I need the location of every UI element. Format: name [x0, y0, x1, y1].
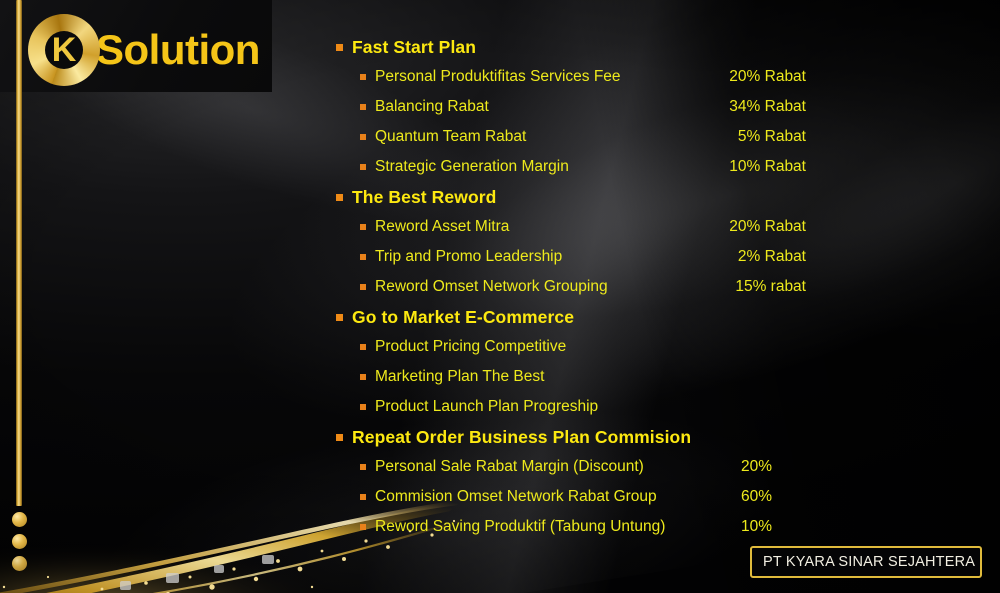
plan-item: Product Pricing Competitive [360, 332, 806, 362]
gold-dot-2 [12, 534, 27, 549]
plan-item-label: Product Pricing Competitive [375, 338, 806, 356]
plan-item: Balancing Rabat 34% Rabat [360, 92, 806, 122]
plan-item: Personal Produktifitas Services Fee 20% … [360, 62, 806, 92]
plan-item: Quantum Team Rabat 5% Rabat [360, 122, 806, 152]
square-bullet-icon [360, 494, 366, 500]
brand-logo: K Solution [28, 14, 260, 86]
plan-item: Strategic Generation Margin 10% Rabat [360, 152, 806, 182]
plan-list: Fast Start Plan Personal Produktifitas S… [336, 32, 806, 542]
plan-group-header: Go to Market E-Commerce [336, 302, 806, 332]
plan-item-label: Marketing Plan The Best [375, 368, 806, 386]
plan-item-value: 20% [710, 458, 772, 476]
plan-item-value: 20% Rabat [710, 68, 806, 86]
plan-item: Product Launch Plan Progreship [360, 392, 806, 422]
plan-group-header: Fast Start Plan [336, 32, 806, 62]
plan-item-value: 10% [710, 518, 772, 536]
square-bullet-icon [360, 224, 366, 230]
plan-group-header: Repeat Order Business Plan Commision [336, 422, 806, 452]
plan-item-value: 5% Rabat [710, 128, 806, 146]
plan-item: Commision Omset Network Rabat Group 60% [360, 482, 806, 512]
plan-item-label: Personal Produktifitas Services Fee [375, 68, 710, 86]
logo-wordmark: Solution [96, 26, 260, 74]
square-bullet-icon [360, 404, 366, 410]
plan-item-label: Quantum Team Rabat [375, 128, 710, 146]
square-bullet-icon [360, 104, 366, 110]
plan-item-value: 15% rabat [710, 278, 806, 296]
plan-item-label: Reword Saving Produktif (Tabung Untung) [375, 518, 710, 536]
company-name: PT KYARA SINAR SEJAHTERA [763, 554, 975, 570]
company-badge: PT KYARA SINAR SEJAHTERA [750, 546, 982, 578]
plan-group: The Best Reword Reword Asset Mitra 20% R… [336, 182, 806, 302]
square-bullet-icon [336, 314, 343, 321]
plan-group-title: Repeat Order Business Plan Commision [352, 427, 691, 448]
square-bullet-icon [360, 134, 366, 140]
plan-group-title: Fast Start Plan [352, 37, 476, 58]
square-bullet-icon [336, 434, 343, 441]
plan-item-value: 10% Rabat [710, 158, 806, 176]
square-bullet-icon [336, 194, 343, 201]
gold-dot-3 [12, 556, 27, 571]
plan-item-label: Reword Asset Mitra [375, 218, 710, 236]
plan-item: Personal Sale Rabat Margin (Discount) 20… [360, 452, 806, 482]
plan-item-label: Personal Sale Rabat Margin (Discount) [375, 458, 710, 476]
plan-item-value: 20% Rabat [710, 218, 806, 236]
plan-item-value: 34% Rabat [710, 98, 806, 116]
gold-dot-1 [12, 512, 27, 527]
plan-item-label: Product Launch Plan Progreship [375, 398, 806, 416]
plan-item: Trip and Promo Leadership 2% Rabat [360, 242, 806, 272]
square-bullet-icon [360, 284, 366, 290]
plan-item-label: Reword Omset Network Grouping [375, 278, 710, 296]
slide-canvas: K Solution Fast Start Plan Personal Prod… [0, 0, 1000, 593]
square-bullet-icon [360, 254, 366, 260]
plan-item-label: Strategic Generation Margin [375, 158, 710, 176]
plan-group: Fast Start Plan Personal Produktifitas S… [336, 32, 806, 182]
plan-item-value: 60% [710, 488, 772, 506]
square-bullet-icon [360, 164, 366, 170]
plan-group-title: Go to Market E-Commerce [352, 307, 574, 328]
plan-group-title: The Best Reword [352, 187, 496, 208]
logo-mark-letter: K [52, 33, 77, 67]
plan-item: Marketing Plan The Best [360, 362, 806, 392]
plan-item: Reword Omset Network Grouping 15% rabat [360, 272, 806, 302]
plan-item-label: Trip and Promo Leadership [375, 248, 710, 266]
plan-group-header: The Best Reword [336, 182, 806, 212]
gold-vertical-bar [16, 0, 22, 506]
square-bullet-icon [360, 524, 366, 530]
plan-item-label: Commision Omset Network Rabat Group [375, 488, 710, 506]
plan-group: Repeat Order Business Plan Commision Per… [336, 422, 806, 542]
square-bullet-icon [336, 44, 343, 51]
plan-item-value: 2% Rabat [710, 248, 806, 266]
square-bullet-icon [360, 344, 366, 350]
k-circle-logo-icon: K [28, 14, 100, 86]
square-bullet-icon [360, 464, 366, 470]
square-bullet-icon [360, 74, 366, 80]
plan-group: Go to Market E-Commerce Product Pricing … [336, 302, 806, 422]
plan-item-label: Balancing Rabat [375, 98, 710, 116]
plan-item: Reword Saving Produktif (Tabung Untung) … [360, 512, 806, 542]
square-bullet-icon [360, 374, 366, 380]
plan-item: Reword Asset Mitra 20% Rabat [360, 212, 806, 242]
